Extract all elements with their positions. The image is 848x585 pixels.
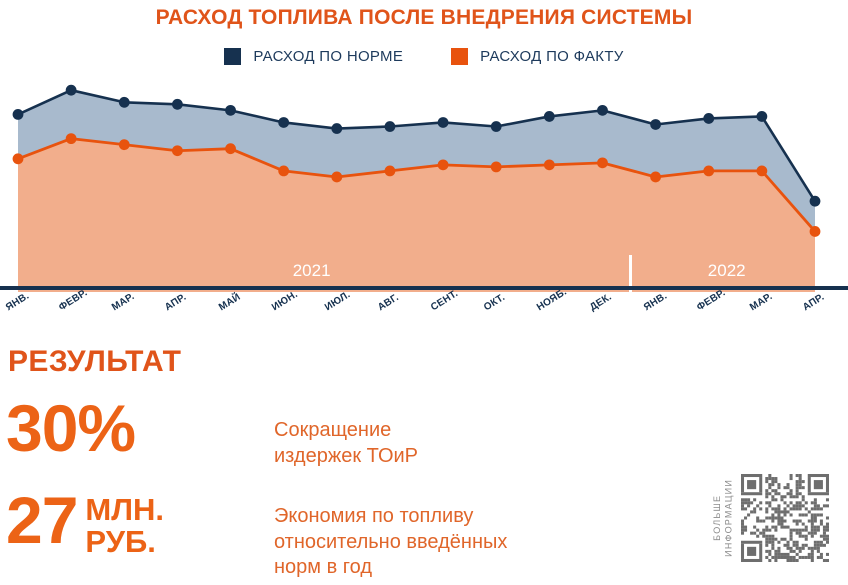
data-point <box>66 133 77 144</box>
x-axis-label: ОКТ. <box>482 292 507 313</box>
data-point <box>13 153 24 164</box>
data-point <box>225 143 236 154</box>
legend-item-norm: РАСХОД ПО НОРМЕ <box>224 48 403 65</box>
data-point <box>703 166 714 177</box>
data-point <box>491 161 502 172</box>
stat-money-unit-line-1: МЛН. <box>85 494 164 526</box>
x-axis-label: СЕНТ. <box>429 288 460 313</box>
year-band: 20212022 <box>0 255 848 287</box>
stat-percent-number: 30% <box>6 398 135 459</box>
stat-percent-desc-line-1: Сокращение <box>274 418 418 444</box>
data-point <box>278 166 289 177</box>
data-point <box>172 99 183 110</box>
qr-caption-line-1: БОЛЬШЕ <box>712 495 722 541</box>
data-point <box>331 123 342 134</box>
legend-swatch-norm-icon <box>224 48 241 65</box>
legend-item-fact: РАСХОД ПО ФАКТУ <box>451 48 623 65</box>
x-axis-label: МАР. <box>748 291 774 313</box>
data-point <box>756 166 767 177</box>
x-axis-label: АВГ. <box>376 292 401 313</box>
data-point <box>438 159 449 170</box>
stat-money-number: 27 <box>6 490 77 551</box>
x-axis-label: ИЮЛ. <box>323 289 352 313</box>
x-axis-month-labels: ЯНВ.ФЕВР.МАР.АПР.МАЙИЮН.ИЮЛ.АВГ.СЕНТ.ОКТ… <box>0 290 848 330</box>
x-axis-label: ФЕВР. <box>57 287 89 313</box>
qr-caption: БОЛЬШЕ ИНФОРМАЦИИ <box>712 479 735 557</box>
stat-percent: 30% <box>6 398 135 459</box>
data-point <box>385 166 396 177</box>
data-point <box>385 121 396 132</box>
data-point <box>650 172 661 183</box>
data-point <box>278 117 289 128</box>
legend-label-fact: РАСХОД ПО ФАКТУ <box>480 48 623 65</box>
x-axis-label: ФЕВР. <box>695 287 727 313</box>
data-point <box>756 111 767 122</box>
x-axis-label: МАР. <box>110 291 136 313</box>
data-point <box>491 121 502 132</box>
data-point <box>810 226 821 237</box>
x-axis-label: ЯНВ. <box>4 291 31 314</box>
stat-percent-desc-line-2: издержек ТОиР <box>274 444 418 470</box>
x-axis-label: НОЯБ. <box>535 286 569 313</box>
data-point <box>172 145 183 156</box>
page-title: РАСХОД ТОПЛИВА ПОСЛЕ ВНЕДРЕНИЯ СИСТЕМЫ <box>0 6 848 30</box>
stat-money: 27 МЛН. РУБ. <box>6 490 164 557</box>
legend-swatch-fact-icon <box>451 48 468 65</box>
result-heading: РЕЗУЛЬТАТ <box>8 345 181 379</box>
stat-percent-description: Сокращение издержек ТОиР <box>274 418 418 469</box>
data-point <box>13 109 24 120</box>
data-point <box>438 117 449 128</box>
x-axis-label: АПР. <box>801 292 826 314</box>
stat-money-desc-line-2: относительно введённых <box>274 530 507 556</box>
qr-code-icon[interactable] <box>741 474 829 562</box>
x-axis-label: АПР. <box>163 292 188 314</box>
stat-money-unit-line-2: РУБ. <box>85 526 164 558</box>
x-axis-label: ЯНВ. <box>642 291 669 314</box>
stat-money-unit: МЛН. РУБ. <box>85 494 164 557</box>
stat-money-desc-line-1: Экономия по топливу <box>274 504 507 530</box>
x-axis-label: МАЙ <box>217 292 243 314</box>
data-point <box>544 111 555 122</box>
data-point <box>225 105 236 116</box>
data-point <box>810 196 821 207</box>
data-point <box>66 85 77 96</box>
data-point <box>703 113 714 124</box>
stat-money-description: Экономия по топливу относительно введённ… <box>274 504 507 581</box>
x-axis-label: ДЕК. <box>588 292 614 314</box>
qr-caption-line-2: ИНФОРМАЦИИ <box>723 479 733 557</box>
year-label: 2022 <box>708 255 746 287</box>
chart-legend: РАСХОД ПО НОРМЕ РАСХОД ПО ФАКТУ <box>0 48 848 65</box>
data-point <box>544 159 555 170</box>
x-axis-label: ИЮН. <box>270 289 300 313</box>
year-label: 2021 <box>293 255 331 287</box>
qr-block[interactable]: БОЛЬШЕ ИНФОРМАЦИИ <box>712 474 829 562</box>
legend-label-norm: РАСХОД ПО НОРМЕ <box>253 48 403 65</box>
data-point <box>119 97 130 108</box>
stat-money-desc-line-3: норм в год <box>274 555 507 581</box>
data-point <box>331 172 342 183</box>
data-point <box>119 139 130 150</box>
data-point <box>650 119 661 130</box>
data-point <box>597 105 608 116</box>
data-point <box>597 157 608 168</box>
